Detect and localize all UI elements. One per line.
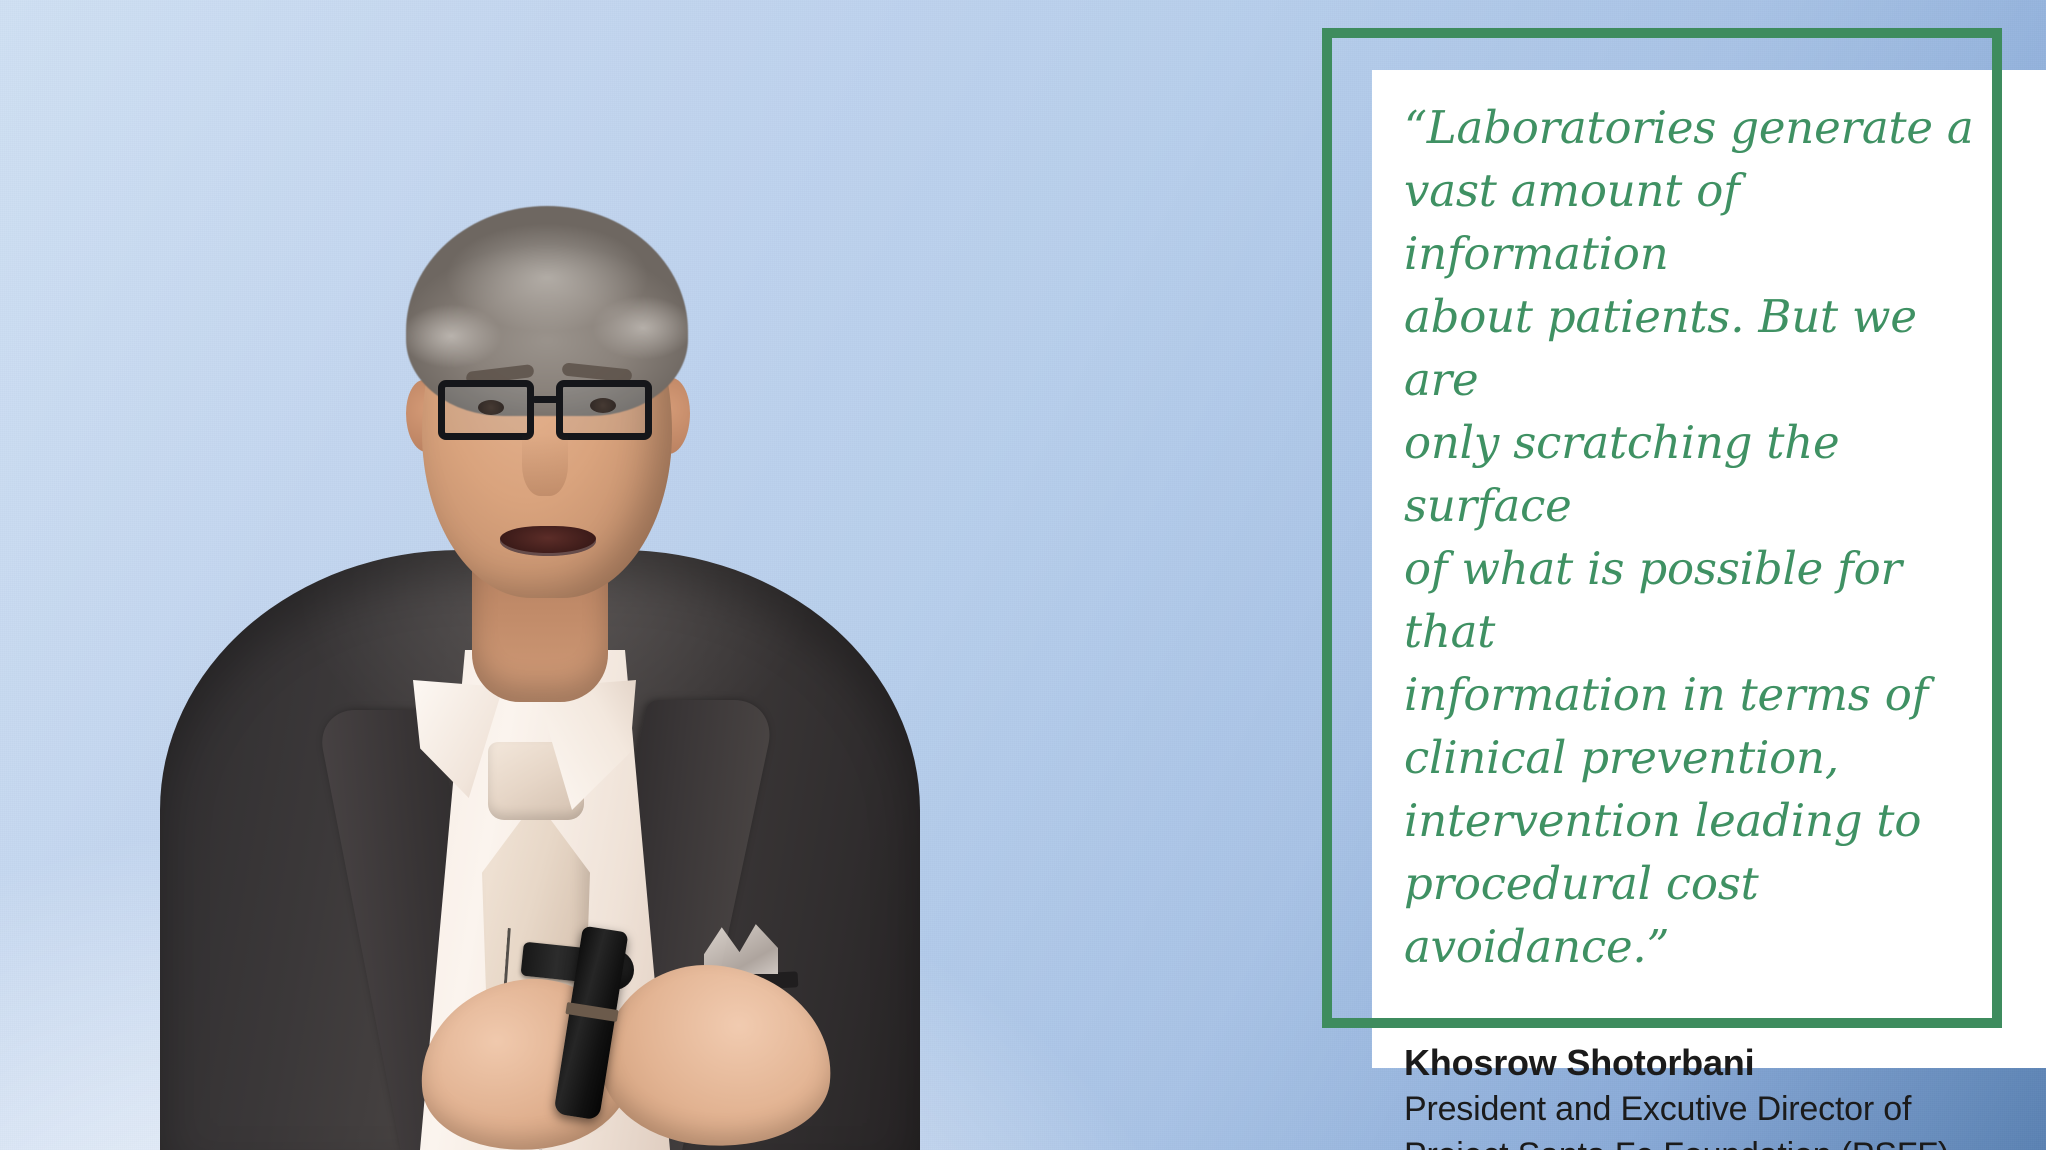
pull-quote-slide: “Laboratories generate a vast amount of …: [0, 0, 2046, 1150]
eyeglass-lens-right: [556, 380, 652, 440]
pull-quote-text: “Laboratories generate a vast amount of …: [1404, 96, 1980, 978]
quote-card-content: “Laboratories generate a vast amount of …: [1404, 96, 1980, 1150]
speaker-portrait: [170, 150, 890, 1150]
eyeglass-lens-left: [438, 380, 534, 440]
attribution-name: Khosrow Shotorbani: [1404, 1040, 1980, 1086]
mouth: [500, 526, 596, 556]
attribution-role: President and Excutive Director of Proje…: [1404, 1086, 1980, 1150]
nose: [522, 418, 568, 496]
